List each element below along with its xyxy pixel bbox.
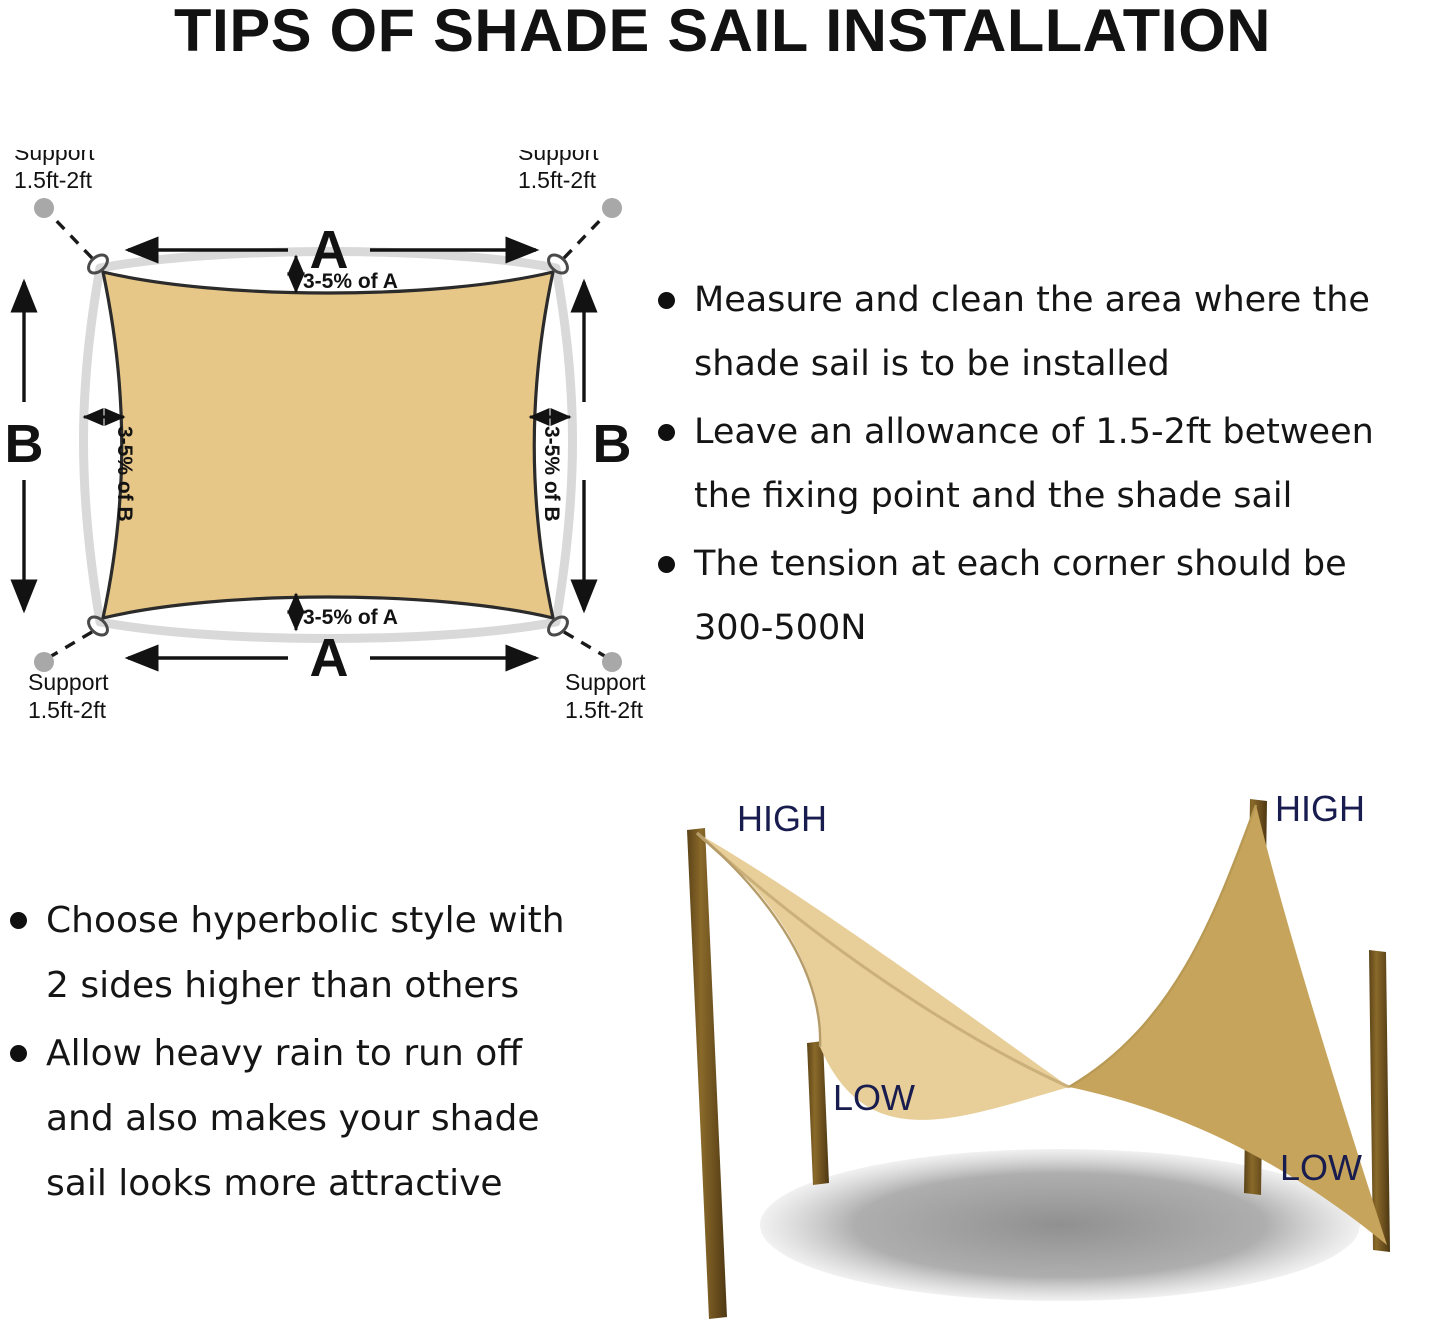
tip-item-measure: Measure and clean the area where the sha…: [648, 268, 1445, 396]
hyperbolic-tips-list: Choose hyperbolic style with 2 sides hig…: [0, 888, 630, 1219]
curvature-label-bottom: 3-5% of A: [303, 606, 398, 629]
support-label-bottom-left-line1: Support: [28, 669, 109, 695]
support-label-bottom-right-line2: 1.5ft-2ft: [565, 697, 644, 723]
tip-line: The tension at each corner should be: [694, 544, 1347, 584]
support-line-bottom-right: [564, 632, 608, 658]
tip-line: Measure and clean the area where the: [694, 280, 1370, 320]
dimension-b-left: B: [5, 282, 44, 610]
dimension-label-a-bottom: A: [310, 628, 349, 688]
tip-item-tension: The tension at each corner should be 300…: [648, 532, 1445, 660]
hyper-tip-line: Allow heavy rain to run off: [46, 1033, 522, 1074]
label-high-right: HIGH: [1275, 788, 1365, 829]
support-label-top-left-line2: 1.5ft-2ft: [14, 167, 93, 193]
curvature-label-top: 3-5% of A: [303, 270, 398, 293]
pole-low-left: [807, 1041, 829, 1185]
hyper-tip-line: and also makes your shade: [46, 1098, 540, 1139]
tip-line: the fixing point and the shade sail: [694, 476, 1292, 516]
label-high-left: HIGH: [737, 798, 827, 839]
dimension-label-b-right: B: [593, 414, 632, 474]
dimension-label-b-left: B: [5, 414, 44, 474]
installation-tips-list: Measure and clean the area where the sha…: [648, 268, 1445, 664]
support-line-top-left: [48, 212, 92, 258]
support-dot-top-right: [602, 198, 622, 218]
support-line-bottom-left: [48, 632, 92, 658]
label-low-left: LOW: [833, 1077, 915, 1118]
ground-shadow: [760, 1149, 1360, 1301]
shade-sail-body: [103, 272, 553, 618]
hyper-tip-line: 2 sides higher than others: [46, 965, 519, 1006]
tip-line: Leave an allowance of 1.5-2ft between: [694, 412, 1374, 452]
dimension-b-right: B: [584, 282, 632, 610]
support-label-bottom-left-line2: 1.5ft-2ft: [28, 697, 107, 723]
pole-high-left: [687, 828, 727, 1319]
page-title: TIPS OF SHADE SAIL INSTALLATION: [0, 0, 1445, 65]
rectangular-sail-diagram: A 3-5% of A 3-5% of A A B 3-5% of B: [0, 150, 660, 750]
hyper-tip-item-rain: Allow heavy rain to run off and also mak…: [0, 1021, 630, 1216]
support-dot-top-left: [34, 198, 54, 218]
curvature-label-right: 3-5% of B: [540, 426, 563, 522]
support-label-top-right-line1: Support: [518, 150, 599, 165]
tip-item-allowance: Leave an allowance of 1.5-2ft between th…: [648, 400, 1445, 528]
tip-line: shade sail is to be installed: [694, 344, 1170, 384]
tip-line: 300-500N: [694, 608, 866, 648]
hyper-tip-line: Choose hyperbolic style with: [46, 900, 565, 941]
hyperbolic-sail-illustration: HIGH HIGH LOW LOW: [655, 775, 1445, 1319]
curvature-label-left: 3-5% of B: [113, 426, 136, 522]
hyper-tip-line: sail looks more attractive: [46, 1163, 503, 1204]
support-line-top-right: [564, 212, 608, 258]
hyper-tip-item-style: Choose hyperbolic style with 2 sides hig…: [0, 888, 630, 1018]
support-label-top-left-line1: Support: [14, 150, 95, 165]
curvature-note-left: 3-5% of B: [84, 417, 136, 522]
support-label-top-right-line2: 1.5ft-2ft: [518, 167, 597, 193]
label-low-right: LOW: [1280, 1147, 1362, 1188]
support-label-bottom-right-line1: Support: [565, 669, 646, 695]
